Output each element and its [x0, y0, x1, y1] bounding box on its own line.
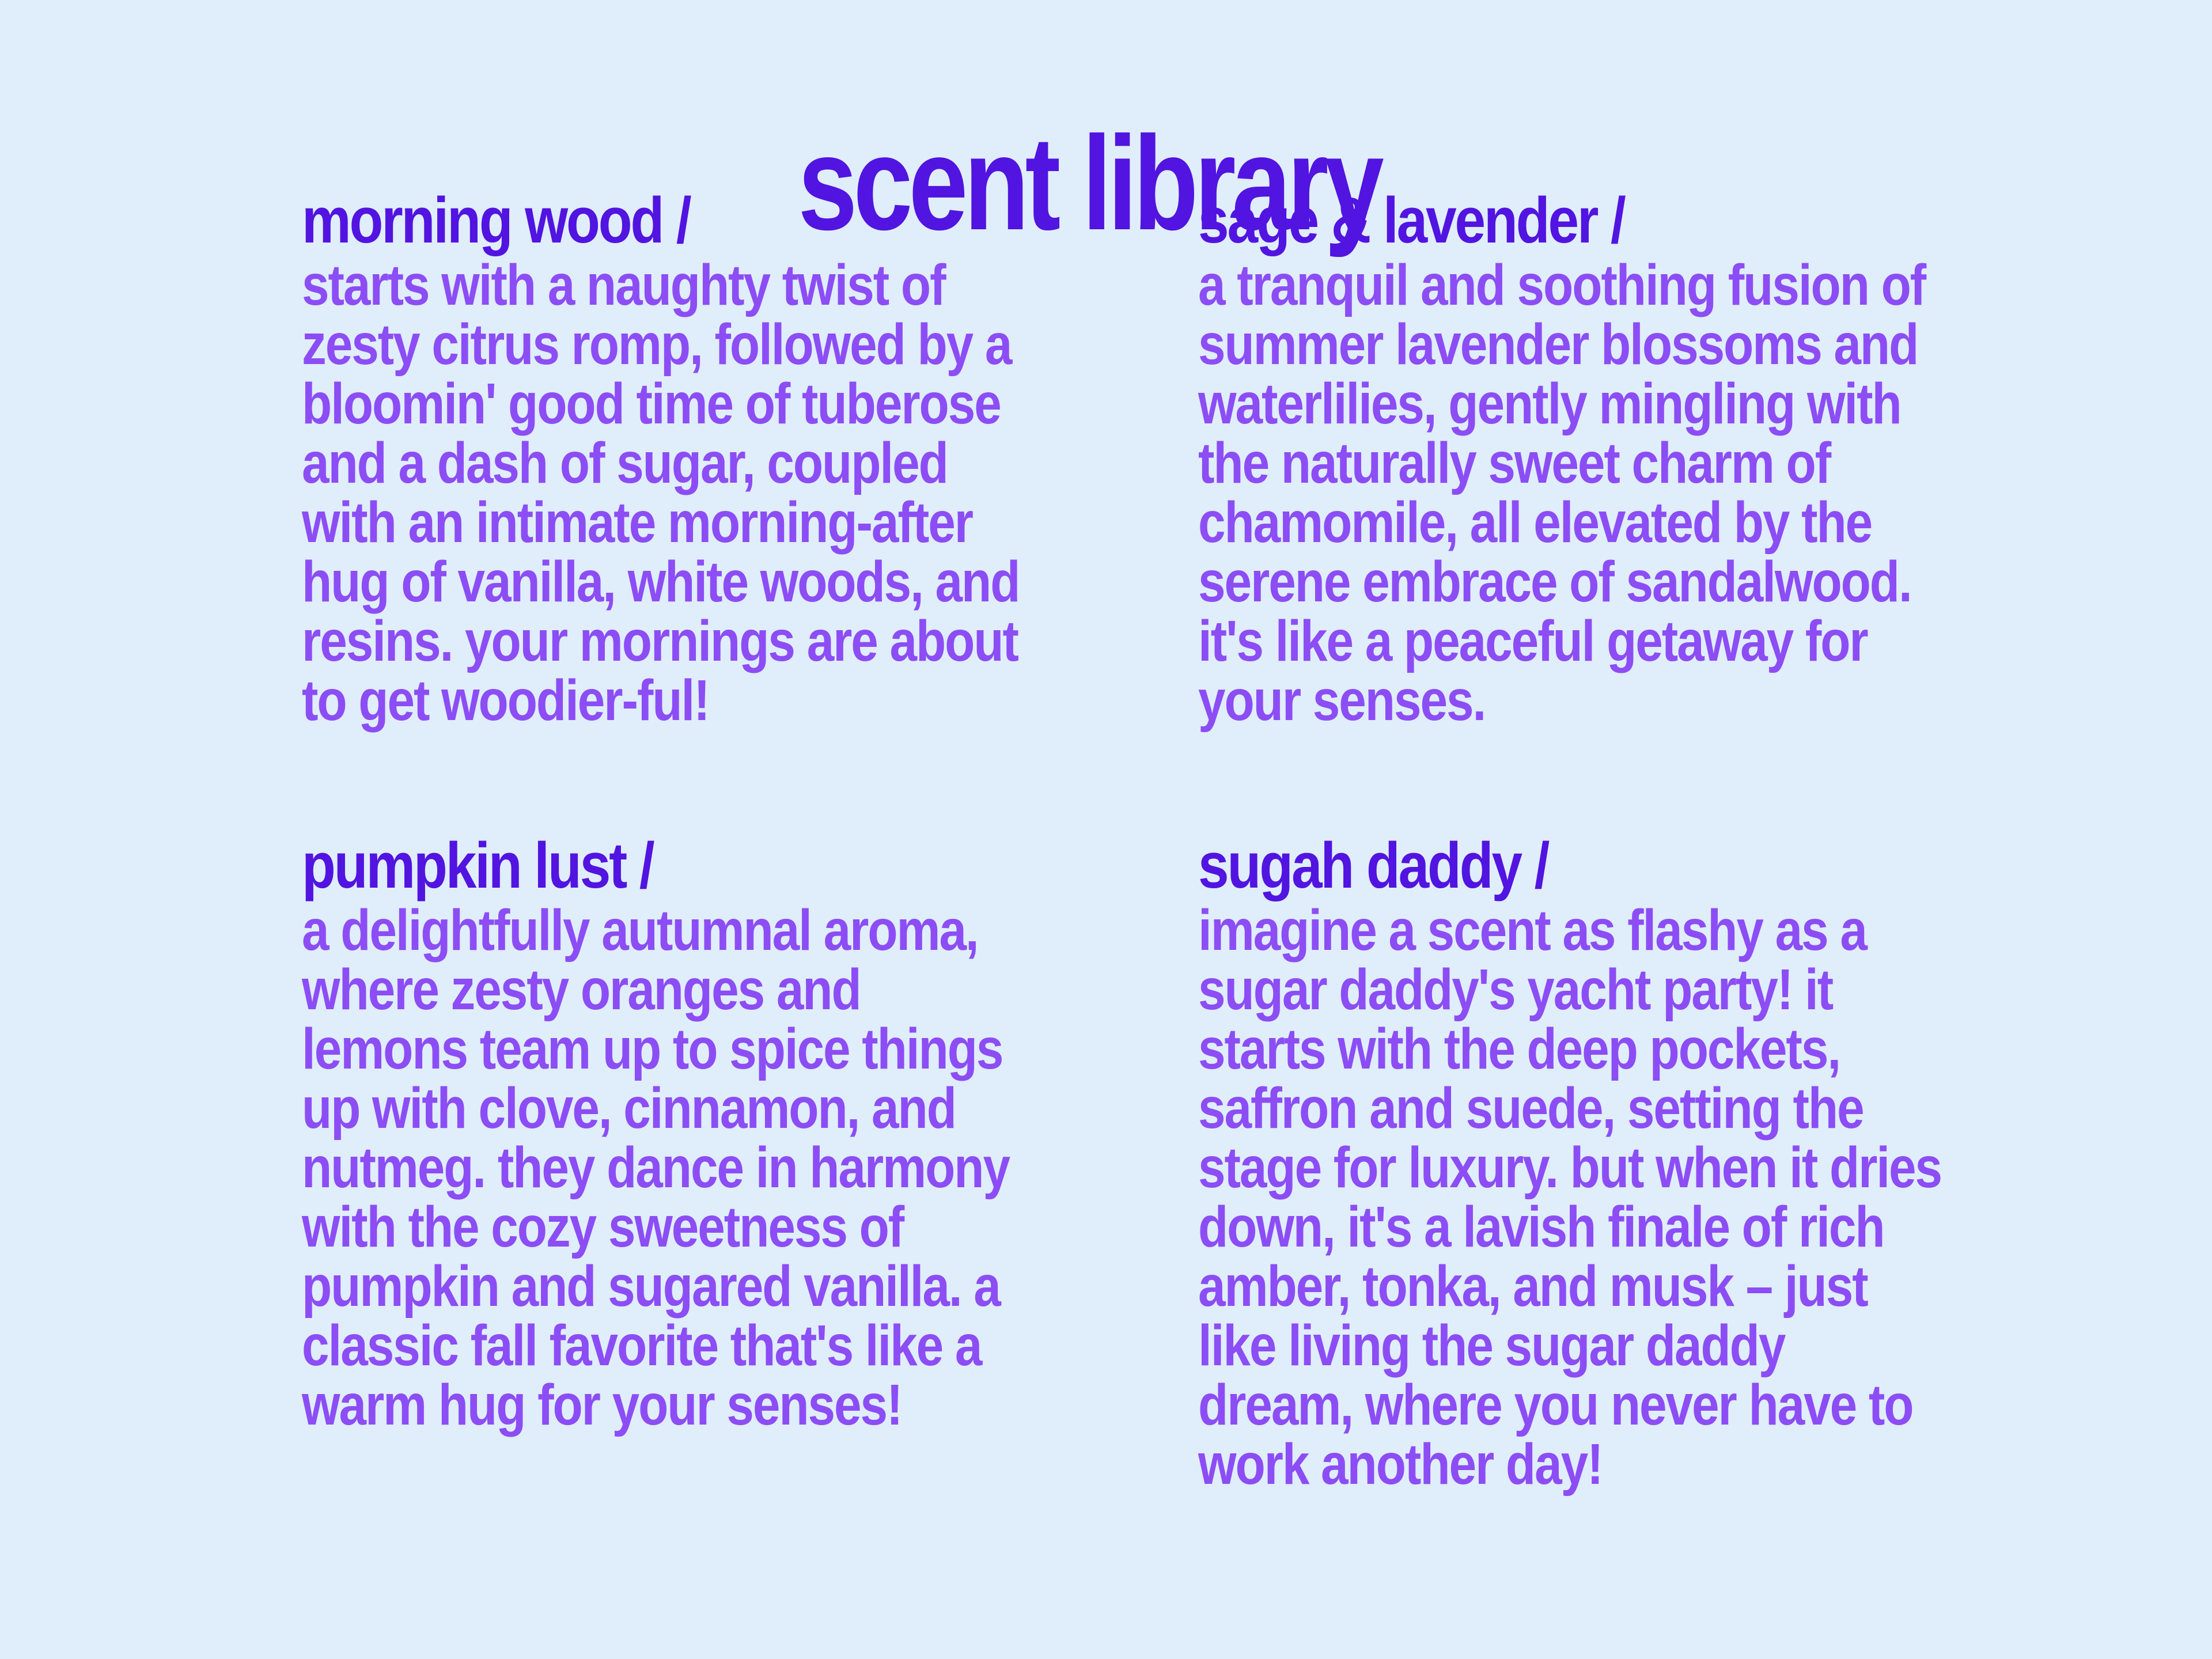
- scent-entry-heading: pumpkin lust /: [302, 833, 1035, 899]
- scent-entry-sugah-daddy: sugah daddy / imagine a scent as flashy …: [1198, 833, 2051, 1494]
- scent-entry-morning-wood: morning wood / starts with a naughty twi…: [302, 188, 1154, 730]
- scent-entry-heading: sugah daddy /: [1198, 833, 1931, 899]
- scent-entry-pumpkin-lust: pumpkin lust / a delightfully autumnal a…: [302, 833, 1154, 1435]
- scent-library-page: { "page": { "title": "scent library", "b…: [0, 0, 2212, 1659]
- scent-entry-heading: sage & lavender /: [1198, 188, 1931, 253]
- scent-entry-description: imagine a scent as flashy as a sugar dad…: [1198, 901, 1927, 1494]
- scent-entry-sage-and-lavender: sage & lavender / a tranquil and soothin…: [1198, 188, 2051, 730]
- scent-entry-description: a tranquil and soothing fusion of summer…: [1198, 256, 1927, 730]
- scent-entry-description: a delightfully autumnal aroma, where zes…: [302, 901, 1031, 1435]
- scent-entry-heading: morning wood /: [302, 188, 1035, 253]
- scent-entry-grid: morning wood / starts with a naughty twi…: [0, 188, 2212, 1605]
- scent-entry-description: starts with a naughty twist of zesty cit…: [302, 256, 1031, 730]
